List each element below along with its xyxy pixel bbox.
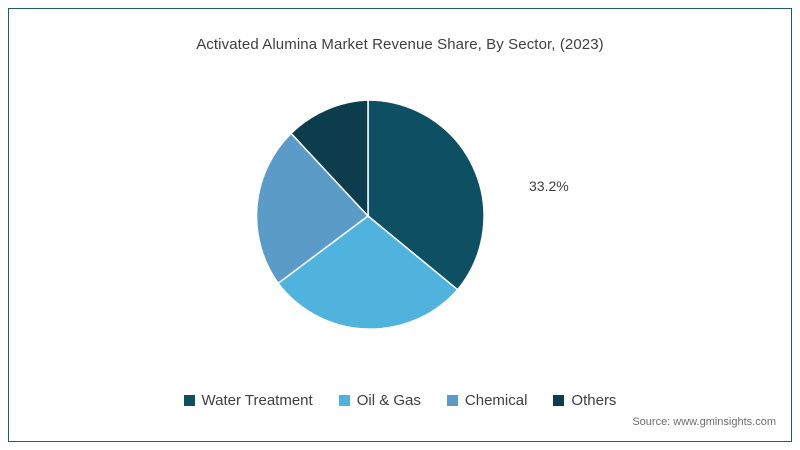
legend-label: Water Treatment: [202, 392, 313, 409]
legend-swatch-icon: [447, 395, 458, 406]
legend-item-others[interactable]: Others: [553, 392, 616, 409]
legend-swatch-icon: [339, 395, 350, 406]
pie-chart: [252, 100, 484, 332]
chart-title: Activated Alumina Market Revenue Share, …: [0, 36, 800, 53]
legend-item-water-treatment[interactable]: Water Treatment: [184, 392, 313, 409]
legend-swatch-icon: [553, 395, 564, 406]
legend-label: Oil & Gas: [357, 392, 421, 409]
chart-legend: Water Treatment Oil & Gas Chemical Other…: [0, 392, 800, 409]
legend-label: Chemical: [465, 392, 528, 409]
chart-page: Activated Alumina Market Revenue Share, …: [0, 0, 800, 450]
pie-slice-value-label: 33.2%: [529, 178, 569, 194]
legend-item-oil-and-gas[interactable]: Oil & Gas: [339, 392, 421, 409]
source-attribution: Source: www.gminsights.com: [632, 416, 776, 428]
legend-swatch-icon: [184, 395, 195, 406]
legend-label: Others: [571, 392, 616, 409]
pie-svg: [252, 100, 484, 332]
legend-item-chemical[interactable]: Chemical: [447, 392, 528, 409]
